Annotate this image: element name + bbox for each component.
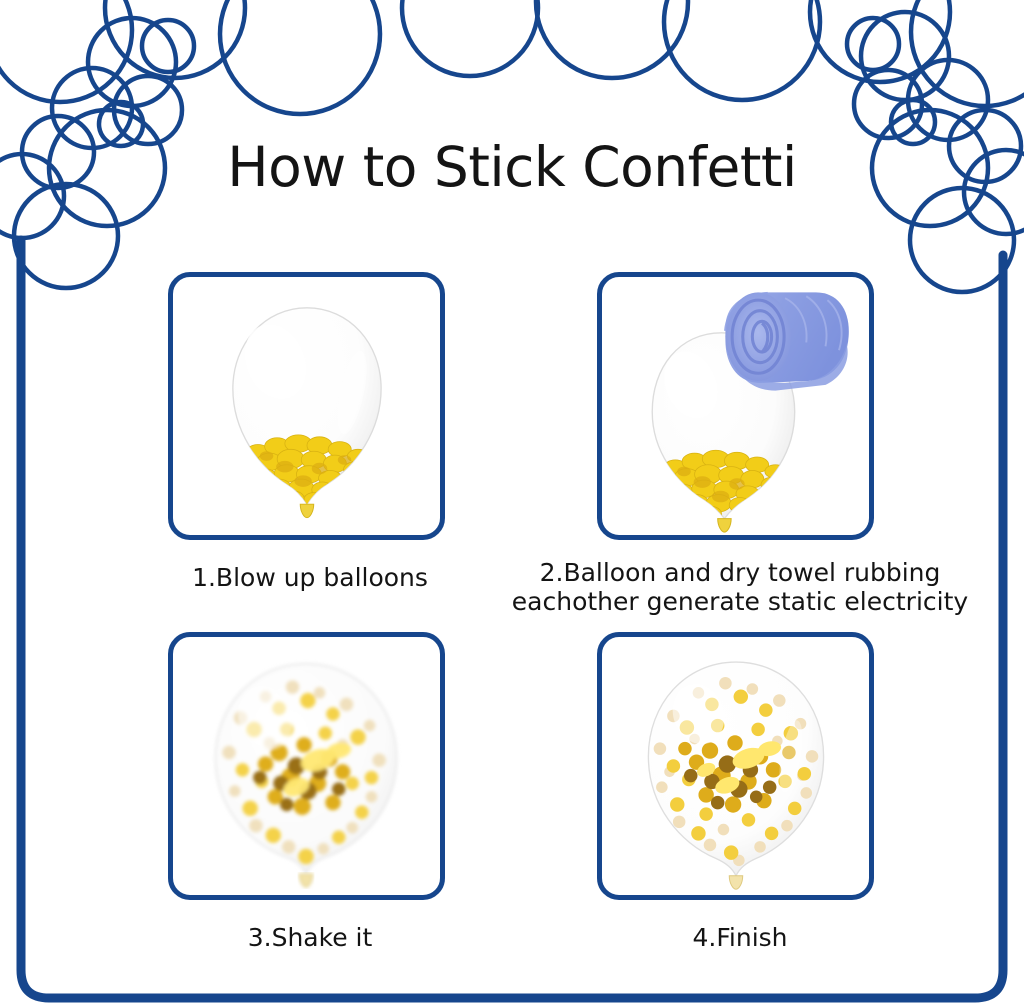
balloon-confetti-bottom-icon — [173, 277, 440, 535]
balloon-confetti-scattered-blur-icon — [173, 637, 440, 895]
bubble-accents — [99, 18, 935, 146]
step-4-caption: 4.Finish — [540, 923, 940, 952]
step-3-caption: 3.Shake it — [110, 923, 510, 952]
balloon-confetti-scattered-sharp-icon — [602, 637, 869, 895]
balloon-with-towel-icon — [602, 277, 869, 535]
step-1-caption: 1.Blow up balloons — [110, 563, 510, 592]
step-4-image-panel — [597, 632, 874, 900]
bubble-arch-large — [0, 0, 1024, 114]
step-2-caption-line-1: 2.Balloon and dry towel rubbing — [490, 558, 990, 587]
step-1-image-panel — [168, 272, 445, 540]
page-title: How to Stick Confetti — [0, 136, 1024, 198]
rolled-towel — [725, 292, 848, 390]
step-3-image-panel — [168, 632, 445, 900]
step-2-caption-line-2: eachother generate static electricity — [490, 587, 990, 616]
step-2-caption: 2.Balloon and dry towel rubbing eachothe… — [490, 558, 990, 616]
poster-root: How to Stick Confetti — [0, 0, 1024, 1008]
step-2-image-panel — [597, 272, 874, 540]
